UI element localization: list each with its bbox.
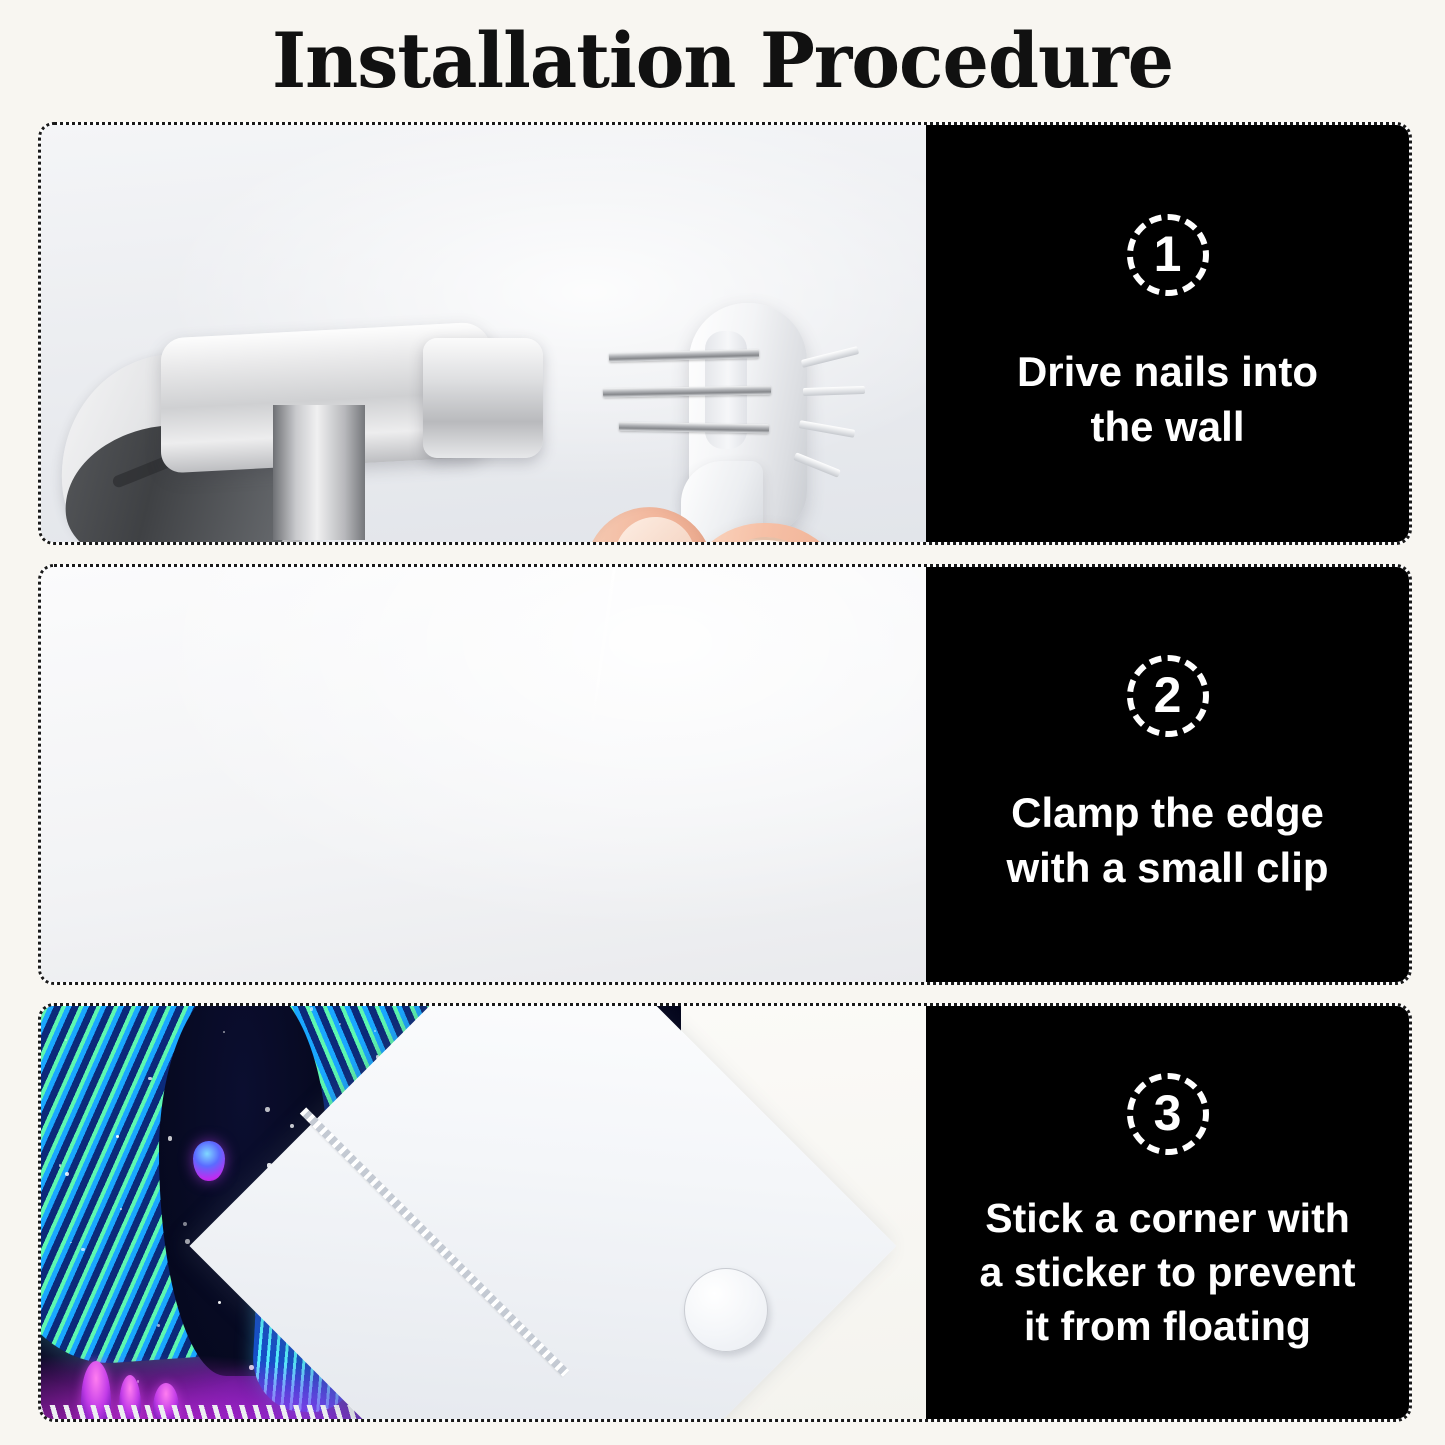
star bbox=[218, 1301, 221, 1304]
step-3-photo bbox=[41, 1006, 926, 1419]
step-row-1: 1 Drive nails into the wall bbox=[38, 122, 1412, 545]
star bbox=[185, 1239, 190, 1244]
step-number-2: 2 bbox=[1154, 670, 1182, 720]
star bbox=[265, 1107, 270, 1112]
step-number-badge-icon: 3 bbox=[1127, 1073, 1209, 1155]
hammer-neck bbox=[273, 405, 365, 540]
star bbox=[168, 1136, 173, 1141]
adhesive-sticker bbox=[684, 1268, 768, 1352]
star bbox=[183, 1222, 188, 1227]
star bbox=[59, 1164, 61, 1166]
step-number-badge-icon: 2 bbox=[1127, 655, 1209, 737]
hammer-face bbox=[423, 338, 543, 458]
step-row-2: 2 Clamp the edge with a small clip bbox=[38, 564, 1412, 985]
star bbox=[65, 1172, 69, 1176]
star bbox=[81, 1248, 85, 1252]
star bbox=[120, 1208, 122, 1210]
step-1-instruction: Drive nails into the wall bbox=[995, 344, 1340, 454]
star bbox=[310, 1007, 314, 1011]
step-1-photo bbox=[41, 125, 926, 542]
installation-procedure-infographic: Installation Procedure bbox=[0, 0, 1445, 1445]
step-3-instruction: Stick a corner with a sticker to prevent… bbox=[958, 1191, 1378, 1353]
star bbox=[148, 1077, 152, 1081]
step-2-photo bbox=[41, 567, 926, 982]
step-2-instruction: Clamp the edge with a small clip bbox=[984, 785, 1350, 895]
step-1-text-panel: 1 Drive nails into the wall bbox=[926, 125, 1409, 542]
step-row-3: 3 Stick a corner with a sticker to preve… bbox=[38, 1003, 1412, 1422]
star bbox=[290, 1124, 294, 1128]
star bbox=[223, 1031, 225, 1033]
step-2-text-panel: 2 Clamp the edge with a small clip bbox=[926, 567, 1409, 982]
step-number-3: 3 bbox=[1154, 1088, 1182, 1138]
page-title: Installation Procedure bbox=[29, 13, 1416, 109]
star bbox=[339, 1023, 341, 1025]
step-number-badge-icon: 1 bbox=[1127, 214, 1209, 296]
star bbox=[65, 1039, 68, 1042]
wall-background bbox=[41, 567, 926, 982]
step-3-text-panel: 3 Stick a corner with a sticker to preve… bbox=[926, 1006, 1409, 1419]
star bbox=[374, 1030, 376, 1032]
star bbox=[116, 1135, 119, 1138]
step-number-1: 1 bbox=[1154, 229, 1182, 279]
star bbox=[70, 1242, 72, 1244]
